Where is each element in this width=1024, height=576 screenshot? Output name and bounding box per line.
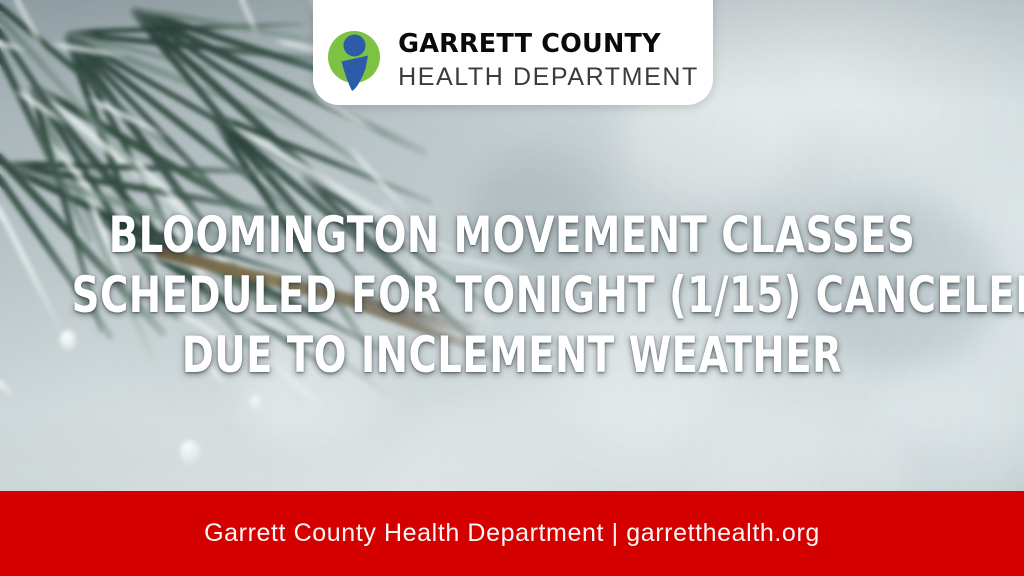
logo-card: GARRETT COUNTY HEALTH DEPARTMENT <box>313 0 713 105</box>
footer-text: Garrett County Health Department | garre… <box>204 519 820 548</box>
logo-org-name-secondary: HEALTH DEPARTMENT <box>398 65 699 90</box>
headline-line-2: SCHEDULED FOR TONIGHT (1/15) CANCELED <box>72 265 953 325</box>
headline-line-3: DUE TO INCLEMENT WEATHER <box>72 325 953 385</box>
announcement-headline: BLOOMINGTON MOVEMENT CLASSES SCHEDULED F… <box>72 205 953 385</box>
announcement-graphic: GARRETT COUNTY HEALTH DEPARTMENT BLOOMIN… <box>0 0 1024 576</box>
logo-org-name-primary: GARRETT COUNTY <box>398 32 699 58</box>
headline-line-1: BLOOMINGTON MOVEMENT CLASSES <box>72 205 953 265</box>
person-pin-logo-icon <box>327 30 385 92</box>
footer-bar: Garrett County Health Department | garre… <box>0 491 1024 576</box>
